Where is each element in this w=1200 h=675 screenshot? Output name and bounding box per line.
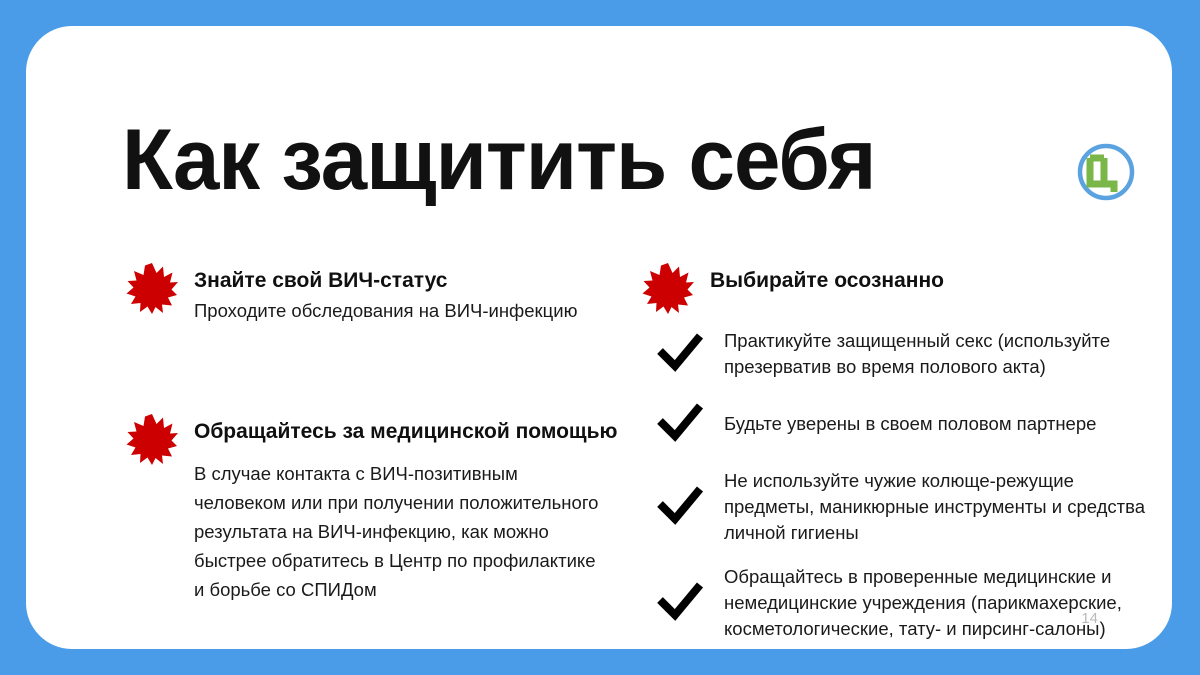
left-block-know-status: Знайте свой ВИЧ-статус Проходите обследо… xyxy=(122,262,632,323)
right-block-choose-consciously: Выбирайте осознанно xyxy=(638,262,1154,294)
center-aids-logo xyxy=(1074,140,1138,204)
checkmark-icon xyxy=(656,333,704,375)
slide-root: Как защитить себя Знайте свой ВИЧ-статус xyxy=(0,0,1200,675)
check-item-text: Обращайтесь в проверенные медицинские и … xyxy=(724,564,1154,642)
page-title: Как защитить себя xyxy=(122,112,875,208)
checkmark-icon xyxy=(656,403,704,445)
list-item: Обращайтесь в проверенные медицинские и … xyxy=(646,564,1154,642)
left-block-body-text: В случае контакта с ВИЧ-позитивным челов… xyxy=(122,445,602,604)
left-block-subtitle: Проходите обследования на ВИЧ-инфекцию xyxy=(194,294,632,323)
right-column: Выбирайте осознанно Практикуйте защищенн… xyxy=(638,262,1154,660)
check-item-text: Не используйте чужие колюще-режущие пред… xyxy=(724,468,1154,546)
left-block-heading: Знайте свой ВИЧ-статус xyxy=(194,262,632,294)
page-number: 14 xyxy=(1081,610,1098,627)
check-item-text: Практикуйте защищенный секс (используйте… xyxy=(724,328,1154,380)
left-block-seek-medical-help: Обращайтесь за медицинской помощью xyxy=(122,413,632,445)
left-block-heading: Обращайтесь за медицинской помощью xyxy=(194,413,632,445)
list-item: Не используйте чужие колюще-режущие пред… xyxy=(646,468,1154,546)
list-item: Будьте уверены в своем половом партнере xyxy=(646,398,1154,450)
red-starburst-icon xyxy=(642,262,694,314)
left-column: Знайте свой ВИЧ-статус Проходите обследо… xyxy=(122,262,632,604)
red-starburst-icon xyxy=(126,262,178,314)
check-list: Практикуйте защищенный секс (используйте… xyxy=(638,328,1154,642)
right-block-heading: Выбирайте осознанно xyxy=(710,262,1154,294)
list-item: Практикуйте защищенный секс (используйте… xyxy=(646,328,1154,380)
check-item-text: Будьте уверены в своем половом партнере xyxy=(724,411,1096,437)
checkmark-icon xyxy=(656,486,704,528)
red-starburst-icon xyxy=(126,413,178,465)
checkmark-icon xyxy=(656,582,704,624)
slide-card: Как защитить себя Знайте свой ВИЧ-статус xyxy=(26,26,1172,649)
